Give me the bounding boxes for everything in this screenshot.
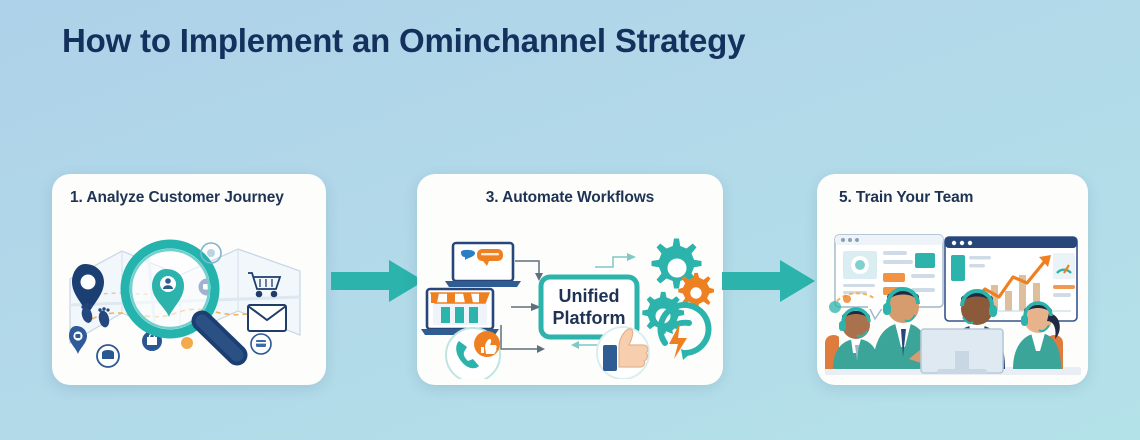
store-pin-icon [97, 345, 119, 367]
monitor-icon [921, 329, 1003, 374]
phone-thumbsup-icon [446, 328, 500, 379]
headset-agent-icon [825, 309, 879, 369]
connector-arrow-step3-step5 [722, 258, 816, 304]
step-card-train-your-team[interactable]: 5. Train Your Team [817, 174, 1088, 385]
thumbs-up-icon [597, 327, 649, 379]
envelope-icon [248, 305, 286, 331]
laptop-store-icon [421, 289, 499, 335]
page-title: How to Implement an Ominchannel Strategy [62, 20, 822, 62]
laptop-chat-icon [445, 243, 521, 287]
step-card-title: 3. Automate Workflows [427, 187, 713, 209]
dot-marker-icon [181, 337, 193, 349]
tag-pin-icon [201, 243, 221, 263]
step-card-automate-workflows[interactable]: 3. Automate Workflows [417, 174, 723, 385]
step-card-title: 1. Analyze Customer Journey [70, 187, 312, 209]
map-with-magnifying-glass-illustration [52, 227, 326, 379]
card-pin-icon [251, 334, 271, 354]
camera-pin-icon [69, 326, 87, 354]
infographic-canvas: How to Implement an Ominchannel Strategy… [0, 0, 1140, 440]
unified-platform-label-line2: Platform [552, 308, 625, 328]
lightning-refresh-icon [660, 305, 708, 360]
unified-platform-diagram-illustration: Unified Platform [417, 227, 723, 379]
step-card-analyze-customer-journey[interactable]: 1. Analyze Customer Journey [52, 174, 326, 385]
step-card-title: 5. Train Your Team [839, 187, 1074, 209]
unified-platform-label-line1: Unified [559, 286, 620, 306]
team-training-illustration [817, 227, 1088, 379]
connector-arrow-step1-step3 [331, 258, 425, 304]
